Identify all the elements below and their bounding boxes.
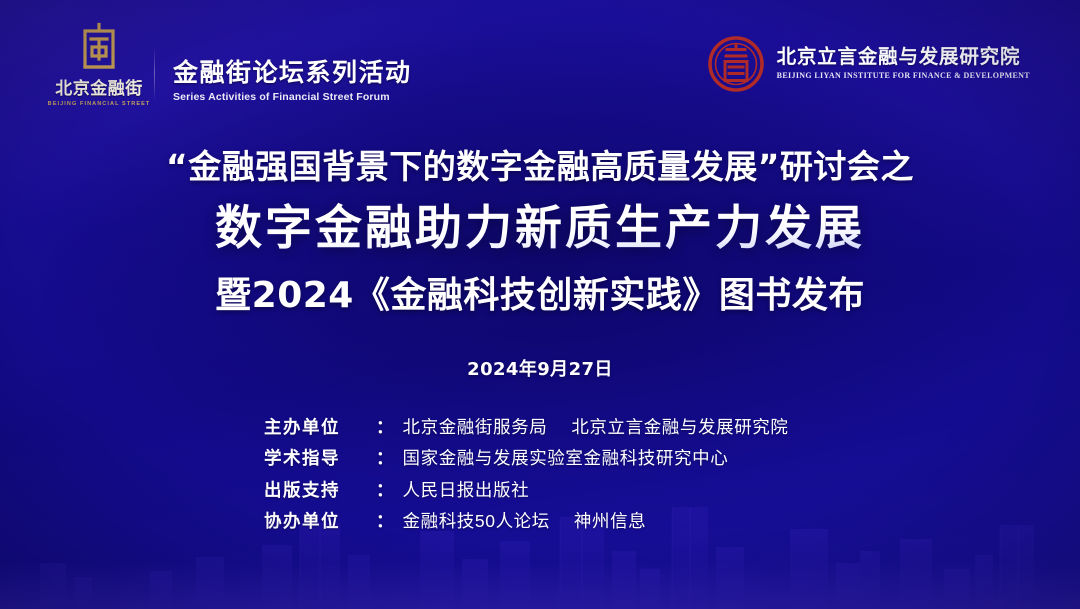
forum-title-en: Series Activities of Financial Street Fo… <box>173 91 412 103</box>
bfs-brand-cn: 北京金融街 <box>55 74 143 99</box>
credit-values: 人民日报出版社 <box>403 476 530 504</box>
credit-value: 国家金融与发展实验室金融科技研究中心 <box>403 444 729 472</box>
gate-emblem-icon: 北京金融街 BEIJING FINANCIAL STREET <box>62 22 136 107</box>
credit-label: 协办单位 <box>264 507 376 535</box>
liyan-institute-logo: 北京立言金融与发展研究院 BEIJING LIYAN INSTITUTE FOR… <box>707 35 1030 93</box>
title-line-1: “金融强国背景下的数字金融高质量发展”研讨会之 <box>0 148 1080 187</box>
title-line-3: 暨2024《金融科技创新实践》图书发布 <box>0 274 1080 317</box>
event-banner: 北京金融街 BEIJING FINANCIAL STREET 金融街论坛系列活动… <box>0 0 1080 609</box>
forum-title-cn: 金融街论坛系列活动 <box>173 60 412 88</box>
credit-value: 人民日报出版社 <box>403 476 530 504</box>
credit-colon: ： <box>376 476 394 504</box>
credit-value: 金融科技50人论坛 <box>403 507 550 535</box>
beijing-financial-street-logo: 北京金融街 BEIJING FINANCIAL STREET 金融街论坛系列活动… <box>62 22 412 107</box>
title-block: “金融强国背景下的数字金融高质量发展”研讨会之 数字金融助力新质生产力发展 暨2… <box>0 148 1080 381</box>
credit-label: 主办单位 <box>264 413 376 441</box>
credit-label: 出版支持 <box>264 476 376 504</box>
ground-glow <box>0 563 1080 609</box>
credit-colon: ： <box>376 507 394 535</box>
credit-value: 北京立言金融与发展研究院 <box>571 413 788 441</box>
banner-header: 北京金融街 BEIJING FINANCIAL STREET 金融街论坛系列活动… <box>0 0 1080 128</box>
credit-values: 北京金融街服务局北京立言金融与发展研究院 <box>403 413 789 441</box>
institute-name-en: BEIJING LIYAN INSTITUTE FOR FINANCE & DE… <box>777 71 1030 80</box>
credit-value: 神州信息 <box>574 507 646 535</box>
credit-colon: ： <box>376 413 394 441</box>
credit-value: 北京金融街服务局 <box>403 413 548 441</box>
logo-divider <box>154 47 155 101</box>
institute-name-lockup: 北京立言金融与发展研究院 BEIJING LIYAN INSTITUTE FOR… <box>777 47 1030 81</box>
institute-name-cn: 北京立言金融与发展研究院 <box>777 47 1030 69</box>
credits-block: 主办单位：北京金融街服务局北京立言金融与发展研究院学术指导：国家金融与发展实验室… <box>0 413 1080 535</box>
credit-row: 出版支持：人民日报出版社 <box>264 476 816 504</box>
credit-label: 学术指导 <box>264 444 376 472</box>
bfs-brand-en: BEIJING FINANCIAL STREET <box>48 101 151 107</box>
round-seal-icon <box>707 35 765 93</box>
credit-row: 学术指导：国家金融与发展实验室金融科技研究中心 <box>264 444 816 472</box>
credit-row: 主办单位：北京金融街服务局北京立言金融与发展研究院 <box>264 413 816 441</box>
financial-street-forum-lockup: 金融街论坛系列活动 Series Activities of Financial… <box>173 60 412 107</box>
event-date: 2024年9月27日 <box>0 355 1080 381</box>
credit-colon: ： <box>376 444 394 472</box>
credit-values: 国家金融与发展实验室金融科技研究中心 <box>403 444 729 472</box>
title-line-2-main: 数字金融助力新质生产力发展 <box>0 201 1080 257</box>
credit-row: 协办单位：金融科技50人论坛神州信息 <box>264 507 816 535</box>
credit-values: 金融科技50人论坛神州信息 <box>403 507 647 535</box>
